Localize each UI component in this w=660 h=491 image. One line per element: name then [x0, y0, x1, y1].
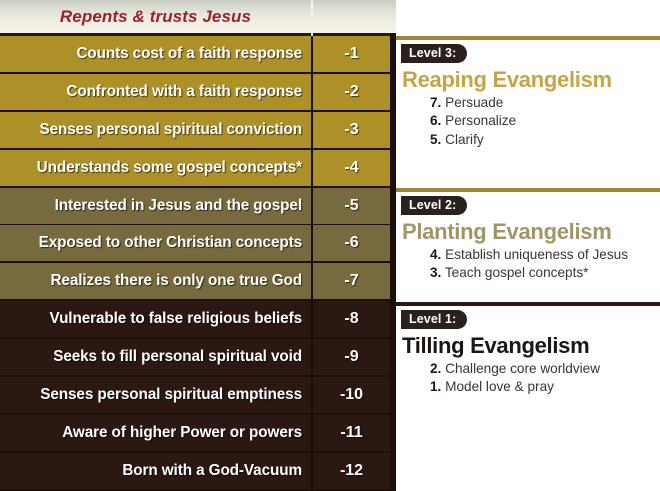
row-number-text: -1 [344, 45, 358, 63]
level-step-number: 7. [430, 95, 441, 110]
row-number-text: -4 [344, 159, 358, 177]
row-number-cell: -3 [313, 112, 390, 148]
level-separator [396, 36, 660, 40]
level-step-text: Persuade [445, 95, 503, 110]
row-number-cell: -9 [313, 339, 390, 375]
row-number-cell: -1 [313, 36, 390, 72]
row-number-cell: -10 [313, 377, 390, 413]
row-label-cell: Exposed to other Christian concepts [0, 225, 311, 261]
row-number-cell: -6 [313, 225, 390, 261]
table-row: Confronted with a faith response-2 [0, 74, 391, 112]
level-step: 6. Personalize [430, 112, 660, 129]
header-title-cell: Repents & trusts Jesus [0, 0, 311, 33]
level-step: 7. Persuade [430, 94, 660, 111]
row-number-text: -11 [340, 424, 362, 442]
row-label-cell: Seeks to fill personal spiritual void [0, 339, 311, 375]
level-step-number: 3. [430, 265, 441, 280]
row-label-text: Born with a God-Vacuum [122, 462, 302, 480]
evangelism-levels-panel: Level 3:Reaping Evangelism7. Persuade6. … [396, 0, 660, 491]
row-divider-left [0, 489, 311, 491]
level-step: 2. Challenge core worldview [430, 360, 660, 377]
level-title: Reaping Evangelism [402, 67, 660, 93]
table-row: Senses personal spiritual conviction-3 [0, 112, 391, 150]
engel-scale-diagram: Repents & trusts Jesus Counts cost of a … [0, 0, 660, 491]
row-number-cell: -8 [313, 301, 390, 337]
row-label-cell: Aware of higher Power or powers [0, 415, 311, 451]
row-label-text: Confronted with a faith response [66, 83, 302, 101]
level-step-number: 5. [430, 132, 441, 147]
level-step-text: Personalize [445, 113, 516, 128]
level-block: Level 2:Planting Evangelism4. Establish … [396, 196, 660, 283]
row-label-text: Exposed to other Christian concepts [39, 234, 302, 252]
level-title: Planting Evangelism [402, 219, 660, 245]
row-label-text: Interested in Jesus and the gospel [55, 197, 302, 215]
row-label-text: Vulnerable to false religious beliefs [50, 310, 302, 328]
page-title: Repents & trusts Jesus [60, 7, 251, 27]
row-label-text: Senses personal spiritual conviction [40, 121, 302, 139]
row-number-text: -8 [344, 310, 358, 328]
level-separator [396, 188, 660, 192]
row-label-text: Realizes there is only one true God [50, 272, 302, 290]
row-label-cell: Interested in Jesus and the gospel [0, 188, 311, 224]
row-number-text: -7 [344, 272, 358, 290]
table-header-row: Repents & trusts Jesus [0, 0, 391, 36]
table-row: Senses personal spiritual emptiness-10 [0, 377, 391, 415]
table-row: Exposed to other Christian concepts-6 [0, 225, 391, 263]
row-number-cell: -7 [313, 263, 390, 299]
row-number-text: -12 [340, 462, 363, 480]
row-number-cell: -4 [313, 150, 390, 186]
row-label-cell: Senses personal spiritual emptiness [0, 377, 311, 413]
row-number-text: -6 [344, 234, 358, 252]
level-step-number: 6. [430, 113, 441, 128]
row-label-text: Senses personal spiritual emptiness [40, 386, 302, 404]
row-label-cell: Confronted with a faith response [0, 74, 311, 110]
row-label-cell: Counts cost of a faith response [0, 36, 311, 72]
row-label-text: Understands some gospel concepts* [37, 159, 302, 177]
table-row: Understands some gospel concepts*-4 [0, 150, 391, 188]
ladder-right-edge-header [390, 0, 396, 33]
row-label-text: Seeks to fill personal spiritual void [53, 348, 302, 366]
level-step-text: Challenge core worldview [445, 361, 600, 376]
level-title: Tilling Evangelism [402, 333, 660, 359]
table-row: Aware of higher Power or powers-11 [0, 415, 391, 453]
level-badge: Level 2: [401, 196, 467, 215]
level-step: 5. Clarify [430, 131, 660, 148]
table-row: Counts cost of a faith response-1 [0, 36, 391, 74]
level-block: Level 3:Reaping Evangelism7. Persuade6. … [396, 44, 660, 149]
row-number-text: -3 [344, 121, 358, 139]
row-label-cell: Realizes there is only one true God [0, 263, 311, 299]
row-label-cell: Born with a God-Vacuum [0, 453, 311, 489]
spiritual-ladder-table: Repents & trusts Jesus Counts cost of a … [0, 0, 391, 491]
row-number-cell: -12 [313, 453, 390, 489]
table-row: Seeks to fill personal spiritual void-9 [0, 339, 391, 377]
header-number-cell [313, 0, 390, 33]
row-number-text: -2 [344, 83, 358, 101]
row-number-cell: -11 [313, 415, 390, 451]
row-number-text: -5 [344, 197, 358, 215]
level-badge: Level 1: [401, 310, 467, 329]
ladder-rows: Counts cost of a faith response-1Confron… [0, 36, 391, 491]
level-step-text: Model love & pray [445, 379, 554, 394]
level-step: 3. Teach gospel concepts* [430, 264, 660, 281]
level-badge: Level 3: [401, 44, 467, 63]
column-gutter [311, 36, 313, 491]
row-label-text: Aware of higher Power or powers [62, 424, 302, 442]
level-step-number: 4. [430, 247, 441, 262]
row-number-text: -9 [344, 348, 358, 366]
level-step-text: Clarify [445, 132, 484, 147]
level-step-number: 2. [430, 361, 441, 376]
level-step: 1. Model love & pray [430, 378, 660, 395]
level-step-number: 1. [430, 379, 441, 394]
row-number-text: -10 [340, 386, 363, 404]
table-row: Vulnerable to false religious beliefs-8 [0, 301, 391, 339]
table-row: Born with a God-Vacuum-12 [0, 453, 391, 491]
row-divider-right [313, 489, 390, 491]
level-step: 4. Establish uniqueness of Jesus [430, 246, 660, 263]
row-number-cell: -5 [313, 188, 390, 224]
level-block: Level 1:Tilling Evangelism2. Challenge c… [396, 310, 660, 397]
row-label-cell: Senses personal spiritual conviction [0, 112, 311, 148]
row-label-cell: Vulnerable to false religious beliefs [0, 301, 311, 337]
level-separator [396, 302, 660, 306]
row-number-cell: -2 [313, 74, 390, 110]
row-label-text: Counts cost of a faith response [76, 45, 302, 63]
table-row: Interested in Jesus and the gospel-5 [0, 188, 391, 226]
level-step-text: Establish uniqueness of Jesus [445, 247, 628, 262]
level-step-text: Teach gospel concepts* [445, 265, 589, 280]
ladder-right-edge [390, 0, 396, 491]
row-label-cell: Understands some gospel concepts* [0, 150, 311, 186]
table-row: Realizes there is only one true God-7 [0, 263, 391, 301]
